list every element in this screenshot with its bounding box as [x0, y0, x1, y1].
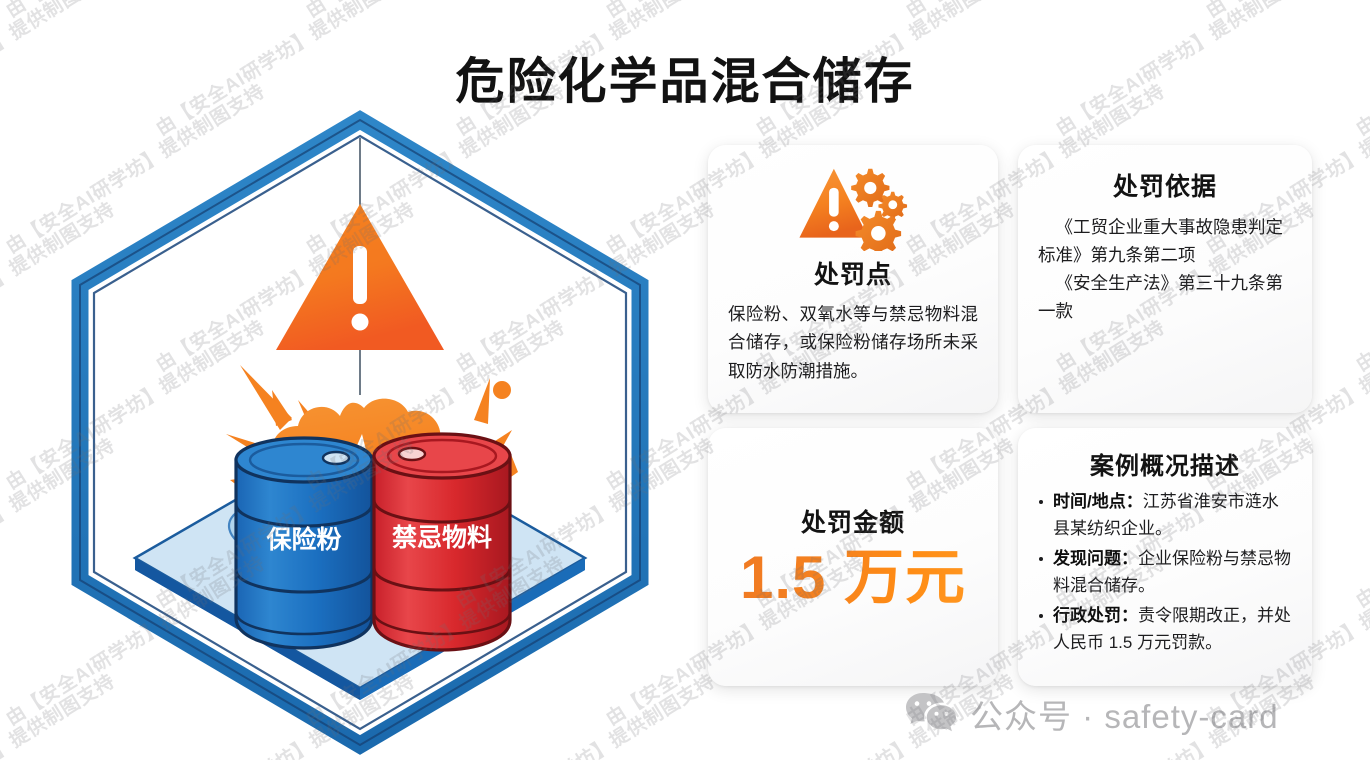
watermark-text: 由【安全AI研学坊】提供制图支持 — [900, 0, 1170, 23]
watermark-text: 由【安全AI研学坊】提供制图支持 — [1350, 430, 1370, 612]
blue-drum-label: 保险粉 — [265, 525, 341, 554]
card-heading-case-overview: 案例概况描述 — [1036, 446, 1294, 481]
card-penalty-amount[interactable]: 处罚金额 1.5 万元 — [708, 428, 998, 686]
warning-triangle-icon — [276, 204, 444, 350]
card-heading-penalty-amount: 处罚金额 — [801, 503, 905, 539]
card-heading-punishment-point: 处罚点 — [728, 255, 978, 291]
case-item-label: 行政处罚： — [1053, 606, 1138, 625]
list-item: 行政处罚：责令限期改正，并处人民币 1.5 万元罚款。 — [1036, 603, 1294, 656]
watermark-text: 由【安全AI研学坊】提供制图支持 — [1200, 0, 1370, 23]
watermark-text: 由【安全AI研学坊】提供制图支持 — [300, 0, 570, 23]
hexagon-warehouse-svg: 保险粉 禁忌物料 — [40, 100, 680, 760]
case-item-label: 发现问题： — [1053, 549, 1138, 568]
card-punishment-point[interactable]: 处罚点 保险粉、双氧水等与禁忌物料混合储存，或保险粉储存场所未采取防水防潮措施。 — [708, 145, 998, 413]
legal-basis-line-2: 《安全生产法》第三十九条第一款 — [1038, 269, 1292, 325]
watermark-text: 由【安全AI研学坊】提供制图支持 — [600, 0, 870, 23]
footer-wechat: 公众号 · safety-card — [905, 690, 1279, 738]
card-heading-legal-basis: 处罚依据 — [1038, 167, 1292, 203]
red-drum: 禁忌物料 — [374, 434, 510, 650]
legal-basis-line-1: 《工贸企业重大事故隐患判定标准》第九条第二项 — [1038, 213, 1292, 269]
watermark-text: 由【安全AI研学坊】提供制图支持 — [1350, 666, 1370, 760]
case-overview-list: 时间/地点：江苏省淮安市涟水县某纺织企业。 发现问题：企业保险粉与禁忌物料混合储… — [1036, 489, 1294, 656]
warning-gears-icon — [728, 163, 978, 251]
penalty-amount-value: 1.5 万元 — [740, 545, 966, 611]
card-legal-basis[interactable]: 处罚依据 《工贸企业重大事故隐患判定标准》第九条第二项 《安全生产法》第三十九条… — [1018, 145, 1312, 413]
red-drum-label: 禁忌物料 — [392, 524, 492, 552]
case-item-label: 时间/地点： — [1053, 492, 1143, 511]
list-item: 发现问题：企业保险粉与禁忌物料混合储存。 — [1036, 546, 1294, 599]
page-title: 危险化学品混合储存 — [0, 42, 1370, 113]
blue-drum: 保险粉 — [236, 438, 372, 648]
wechat-icon — [905, 691, 957, 738]
watermark-text: 由【安全AI研学坊】提供制图支持 — [1350, 194, 1370, 376]
card-case-overview[interactable]: 案例概况描述 时间/地点：江苏省淮安市涟水县某纺织企业。 发现问题：企业保险粉与… — [1018, 428, 1312, 686]
illustration-panel: 保险粉 禁忌物料 — [40, 100, 680, 760]
watermark-text: 由【安全AI研学坊】提供制图支持 — [0, 0, 270, 23]
infographic-canvas: 危险化学品混合储存 — [0, 0, 1370, 760]
card-body-punishment-point: 保险粉、双氧水等与禁忌物料混合储存，或保险粉储存场所未采取防水防潮措施。 — [728, 300, 978, 385]
list-item: 时间/地点：江苏省淮安市涟水县某纺织企业。 — [1036, 489, 1294, 542]
footer-text: 公众号 · safety-card — [970, 690, 1279, 738]
